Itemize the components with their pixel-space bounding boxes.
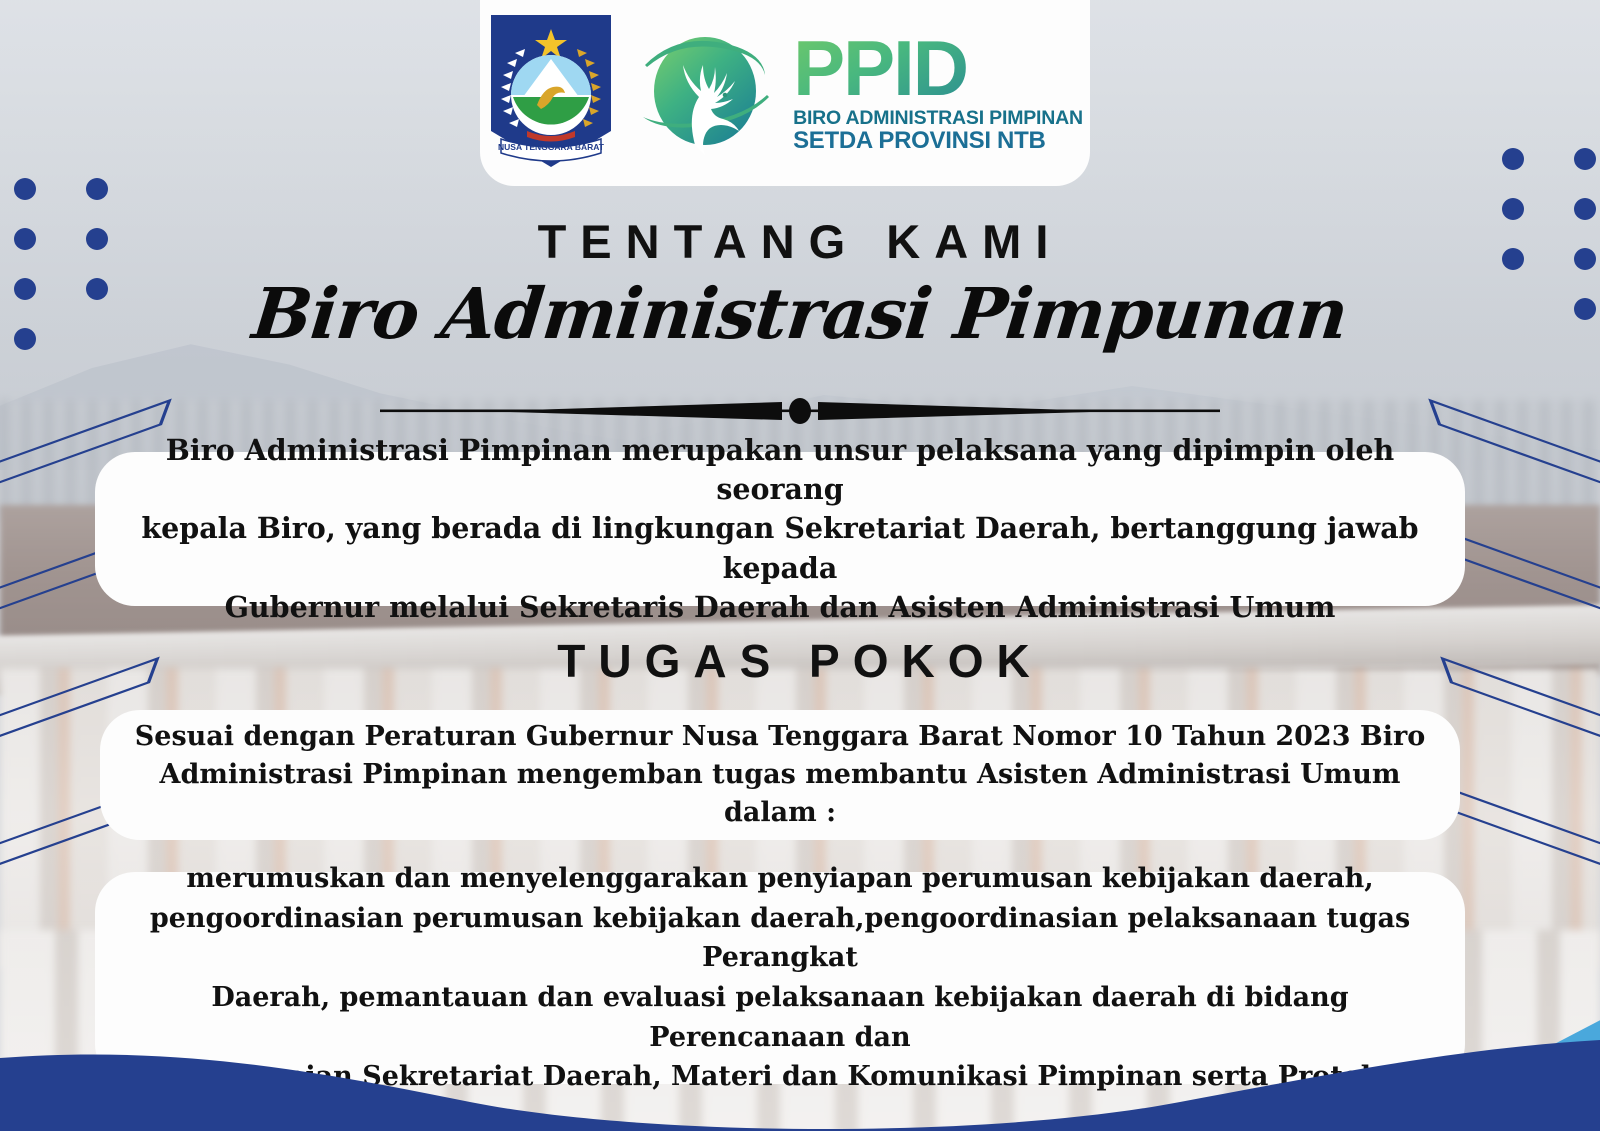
ppid-subtitle-line1: BIRO ADMINISTRASI PIMPINAN [793, 109, 1083, 129]
intro-text-card: Biro Administrasi Pimpinan merupakan uns… [95, 452, 1465, 606]
page-title: Biro Administrasi Pimpunan [0, 272, 1600, 355]
dot [1574, 148, 1596, 170]
dot [14, 178, 36, 200]
ornament-divider [380, 396, 1220, 426]
tugas-line-2: Administrasi Pimpinan mengemban tugas me… [130, 756, 1430, 833]
intro-line-3: Gubernur melalui Sekretaris Daerah dan A… [225, 588, 1336, 627]
poster-canvas: NUSA TENGGARA BARAT PPID BIRO ADMINISTRA… [0, 0, 1600, 1131]
section-heading-tugas-pokok: TUGAS POKOK [0, 634, 1600, 688]
dot [86, 178, 108, 200]
page-kicker: TENTANG KAMI [0, 214, 1600, 269]
intro-line-1: Biro Administrasi Pimpinan merupakan uns… [121, 431, 1439, 510]
intro-line-2: kepala Biro, yang berada di lingkungan S… [121, 509, 1439, 588]
rincian-line-2: pengoordinasian perumusan kebijakan daer… [125, 899, 1435, 978]
ppid-subtitle-line2: SETDA PROVINSI NTB [793, 129, 1045, 153]
bottom-wave-decoration [0, 1040, 1600, 1131]
tugas-line-1: Sesuai dengan Peraturan Gubernur Nusa Te… [135, 718, 1425, 756]
dot [1502, 148, 1524, 170]
ppid-deer-logo-icon [629, 27, 779, 155]
ntb-coat-of-arms-icon: NUSA TENGGARA BARAT [487, 13, 615, 169]
rincian-line-1: merumuskan dan menyelenggarakan penyiapa… [186, 859, 1373, 899]
crest-ribbon-text: NUSA TENGGARA BARAT [498, 142, 605, 152]
logo-header-panel: NUSA TENGGARA BARAT PPID BIRO ADMINISTRA… [480, 0, 1090, 186]
ppid-wordmark: PPID BIRO ADMINISTRASI PIMPINAN SETDA PR… [793, 29, 1083, 154]
ppid-word-text: PPID [793, 29, 967, 107]
tugas-pokok-text-card: Sesuai dengan Peraturan Gubernur Nusa Te… [100, 710, 1460, 840]
